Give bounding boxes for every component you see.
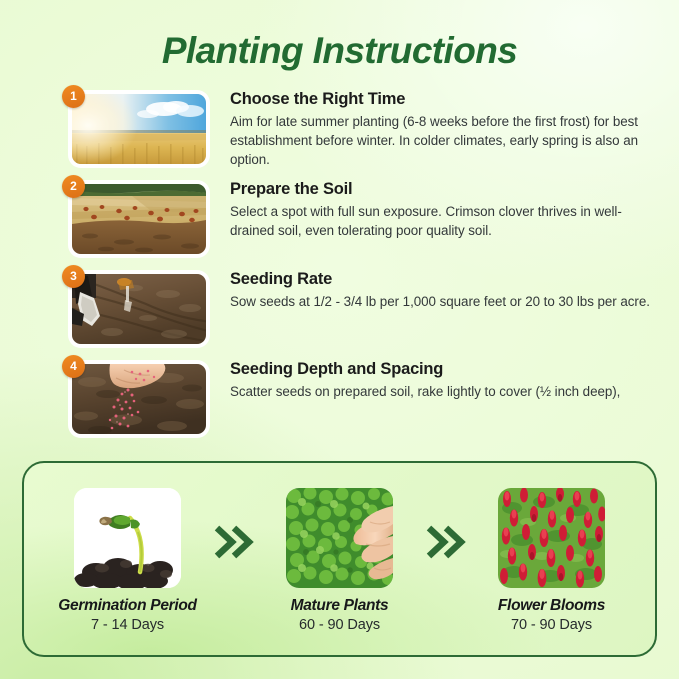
step-thumbnail-wrap: 1	[72, 94, 206, 164]
timeline-stage-value: 60 - 90 Days	[265, 617, 415, 633]
steps-list: 1	[0, 88, 679, 448]
step-text: Seeding Depth and Spacing Scatter seeds …	[206, 358, 636, 401]
step-title: Prepare the Soil	[230, 180, 660, 199]
double-chevron-right-icon	[415, 463, 477, 559]
step-item: 3	[0, 268, 679, 358]
growth-timeline: Germination Period 7 - 14 Days	[22, 461, 657, 657]
step-body: Scatter seeds on prepared soil, rake lig…	[230, 382, 620, 401]
page-title: Planting Instructions	[0, 30, 679, 72]
step-body: Select a spot with full sun exposure. Cr…	[230, 202, 660, 240]
step-item: 2	[0, 178, 679, 268]
step-text: Prepare the Soil Select a spot with full…	[206, 178, 676, 240]
sprouting-seedling-photo	[74, 488, 181, 588]
step-text: Seeding Rate Sow seeds at 1/2 - 3/4 lb p…	[206, 268, 666, 311]
timeline-stage-value: 7 - 14 Days	[53, 617, 203, 633]
timeline-stage-value: 70 - 90 Days	[477, 617, 627, 633]
timeline-stage: Flower Blooms 70 - 90 Days	[477, 463, 627, 633]
step-item: 4	[0, 358, 679, 448]
step-thumbnail-wrap: 3	[72, 274, 206, 344]
hand-scattering-seeds-photo	[72, 364, 206, 434]
step-thumbnail-wrap: 4	[72, 364, 206, 434]
step-body: Sow seeds at 1/2 - 3/4 lb per 1,000 squa…	[230, 292, 650, 311]
timeline-stage-label: Germination Period	[53, 597, 203, 615]
timeline-stage-label: Flower Blooms	[477, 597, 627, 615]
step-thumbnail-wrap: 2	[72, 184, 206, 254]
clover-leaves-hand-photo	[286, 488, 393, 588]
infographic-page: Planting Instructions 1	[0, 0, 679, 679]
double-chevron-right-icon	[203, 463, 265, 559]
seed-drill-soil-photo	[72, 274, 206, 344]
step-number-badge: 2	[62, 175, 85, 198]
step-title: Seeding Depth and Spacing	[230, 360, 620, 379]
step-item: 1	[0, 88, 679, 178]
step-body: Aim for late summer planting (6-8 weeks …	[230, 112, 660, 169]
step-text: Choose the Right Time Aim for late summe…	[206, 88, 676, 169]
timeline-stage-label: Mature Plants	[265, 597, 415, 615]
step-title: Seeding Rate	[230, 270, 650, 289]
timeline-stage: Mature Plants 60 - 90 Days	[265, 463, 415, 633]
wheat-field-sunrise-photo	[72, 94, 206, 164]
step-number-badge: 3	[62, 265, 85, 288]
step-title: Choose the Right Time	[230, 90, 660, 109]
harvested-field-hay-bales-photo	[72, 184, 206, 254]
step-number-badge: 1	[62, 85, 85, 108]
step-number-badge: 4	[62, 355, 85, 378]
timeline-stage: Germination Period 7 - 14 Days	[53, 463, 203, 633]
crimson-clover-blooms-photo	[498, 488, 605, 588]
